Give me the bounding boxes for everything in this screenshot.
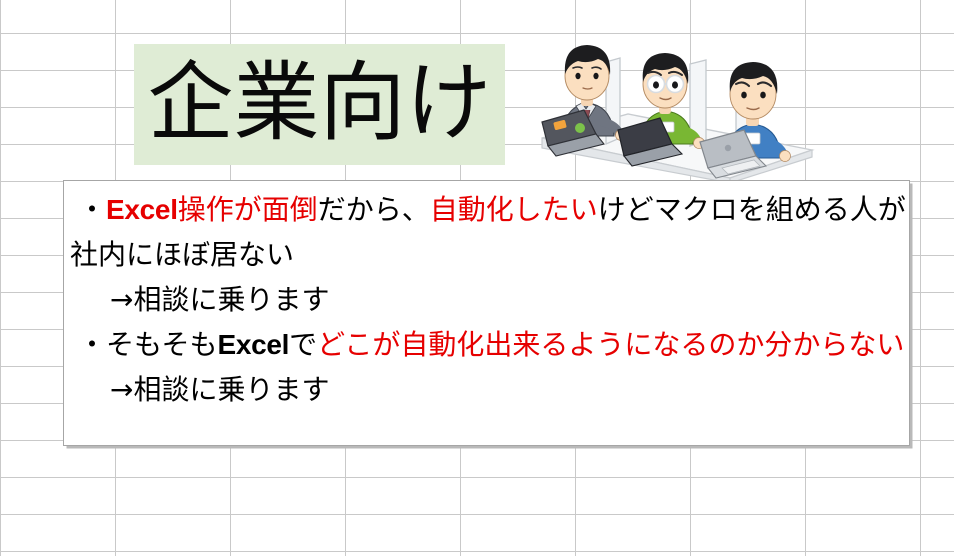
line4-seg-bullet-somosomo: ・そもそも	[78, 328, 217, 361]
line5-seg-consultation: →相談に乗ります	[110, 373, 329, 406]
line4-seg-excel: Excel	[217, 329, 289, 360]
body-text-box: ・Excel操作が面倒だから、自動化したいけどマクロを組める人が 社内にほぼ居な…	[63, 180, 910, 446]
line1-seg-operation-tedious: 操作が面倒	[178, 193, 318, 226]
line4-seg-de: で	[289, 328, 317, 361]
body-line-1: ・Excel操作が面倒だから、自動化したいけどマクロを組める人が	[64, 187, 909, 232]
body-line-2: 社内にほぼ居ない	[64, 232, 909, 277]
line2-seg-none-in-company: 社内にほぼ居ない	[70, 238, 294, 271]
page-title: 企業向け	[148, 60, 492, 146]
line3-seg-consultation: →相談に乗ります	[110, 283, 329, 316]
line1-seg-want-automation: 自動化したい	[430, 193, 598, 226]
line1-seg-therefore: だから、	[318, 193, 430, 226]
line1-seg-excel: Excel	[106, 194, 178, 225]
body-line-5: →相談に乗ります	[64, 367, 909, 412]
line4-seg-dont-know-what-automatable: どこが自動化出来るようになるのか分からない	[317, 328, 904, 361]
title-highlight-block: 企業向け	[134, 44, 505, 165]
office-workers-illustration	[540, 18, 820, 183]
body-line-4: ・そもそもExcelでどこが自動化出来るようになるのか分からない	[64, 322, 909, 367]
line1-seg-no-macro-person: けどマクロを組める人が	[598, 193, 906, 226]
bullet-marker-1: ・	[78, 193, 106, 226]
body-line-3: →相談に乗ります	[64, 277, 909, 322]
